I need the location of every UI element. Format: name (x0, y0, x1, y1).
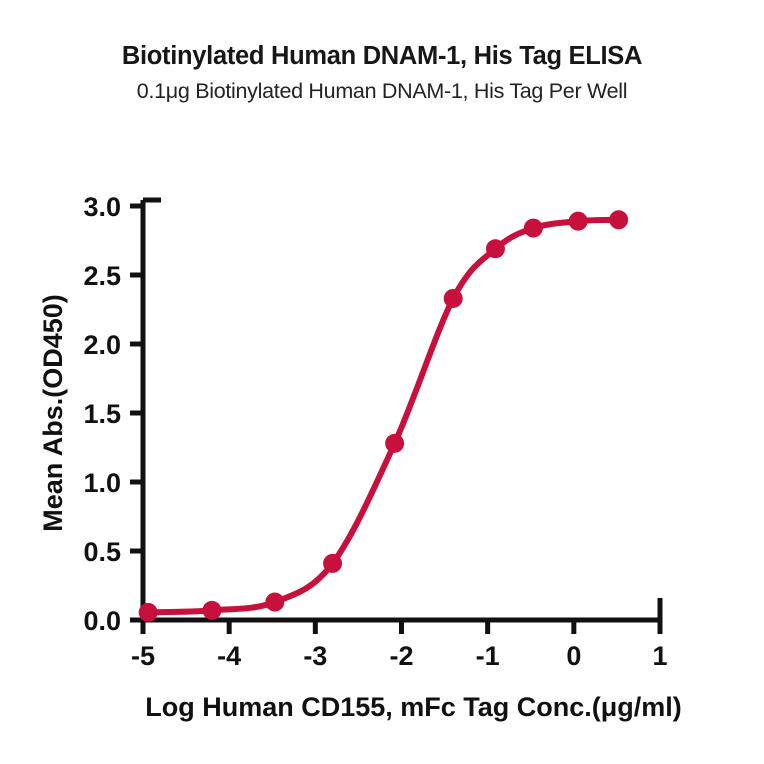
data-point-marker (385, 434, 404, 453)
plot-canvas: 0.00.51.01.52.02.53.0 -5-4-3-2-101 Mean … (0, 0, 764, 764)
data-point-marker (444, 289, 463, 308)
y-axis-tick-label: 0.0 (83, 606, 121, 636)
x-axis-tick-label: -4 (217, 641, 241, 671)
x-axis-tick-label: -2 (389, 641, 413, 671)
elisa-chart-figure: Biotinylated Human DNAM-1, His Tag ELISA… (0, 0, 764, 764)
x-axis-tick-label: 1 (652, 641, 667, 671)
x-axis-title: Log Human CD155, mFc Tag Conc.(μg/ml) (145, 692, 682, 722)
data-point-marker (569, 212, 588, 231)
axis-lines (130, 200, 660, 634)
series-line (148, 220, 618, 613)
data-point-marker (486, 239, 505, 258)
y-axis-tick-label: 0.5 (83, 537, 121, 567)
y-axis-tick-label: 1.0 (83, 468, 121, 498)
data-point-marker (524, 219, 543, 238)
y-axis-tick-label: 2.5 (83, 261, 121, 291)
data-point-marker (609, 210, 628, 229)
x-axis-tick-label: -5 (131, 641, 155, 671)
y-axis-tick-label: 1.5 (83, 399, 121, 429)
data-point-marker (323, 554, 342, 573)
data-point-marker (202, 601, 221, 620)
y-axis-tick-labels: 0.00.51.01.52.02.53.0 (83, 192, 121, 636)
x-axis-tick-label: -1 (476, 641, 500, 671)
x-axis-tick-label: 0 (566, 641, 581, 671)
x-axis-tick-labels: -5-4-3-2-101 (131, 641, 668, 671)
x-axis-tick-label: -3 (303, 641, 327, 671)
y-axis-tick-label: 3.0 (83, 192, 121, 222)
data-point-marker (265, 593, 284, 612)
y-axis-tick-label: 2.0 (83, 330, 121, 360)
data-point-marker (139, 603, 158, 622)
y-axis-title: Mean Abs.(OD450) (38, 294, 68, 532)
data-series-layer (139, 210, 628, 622)
